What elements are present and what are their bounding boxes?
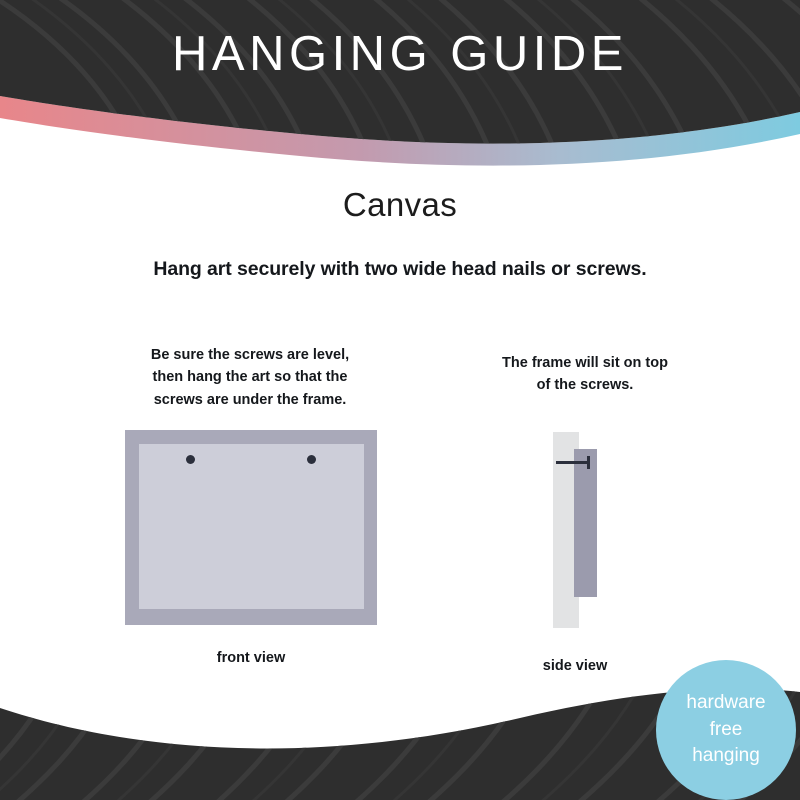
front-view-canvas-area	[139, 444, 364, 609]
side-view-caption: The frame will sit on top of the screws.	[445, 352, 725, 397]
front-caption-line-3: screws are under the frame.	[90, 389, 410, 411]
lead-instruction: Hang art securely with two wide head nai…	[0, 258, 800, 281]
page-title: HANGING GUIDE	[0, 30, 800, 79]
side-view-screw-icon	[556, 461, 590, 464]
screw-dot-right-icon	[307, 455, 316, 464]
front-view-caption: Be sure the screws are level, then hang …	[90, 344, 410, 411]
hanging-guide-page: HANGING GUIDE Canvas Hang art securely w…	[0, 0, 800, 800]
side-caption-line-2: of the screws.	[445, 374, 725, 396]
front-caption-line-2: then hang the art so that the	[90, 366, 410, 388]
product-name: Canvas	[0, 185, 800, 225]
badge-line-3: hanging	[692, 743, 760, 770]
side-view-screw-head-icon	[587, 456, 590, 469]
badge-line-2: free	[710, 717, 743, 744]
side-caption-line-1: The frame will sit on top	[445, 352, 725, 374]
hardware-free-hanging-badge: hardware free hanging	[656, 660, 796, 800]
front-caption-line-1: Be sure the screws are level,	[90, 344, 410, 366]
front-view-frame-diagram	[125, 430, 377, 625]
front-view-label: front view	[125, 650, 377, 666]
side-view-frame	[574, 449, 597, 597]
badge-line-1: hardware	[686, 690, 765, 717]
screw-dot-left-icon	[186, 455, 195, 464]
